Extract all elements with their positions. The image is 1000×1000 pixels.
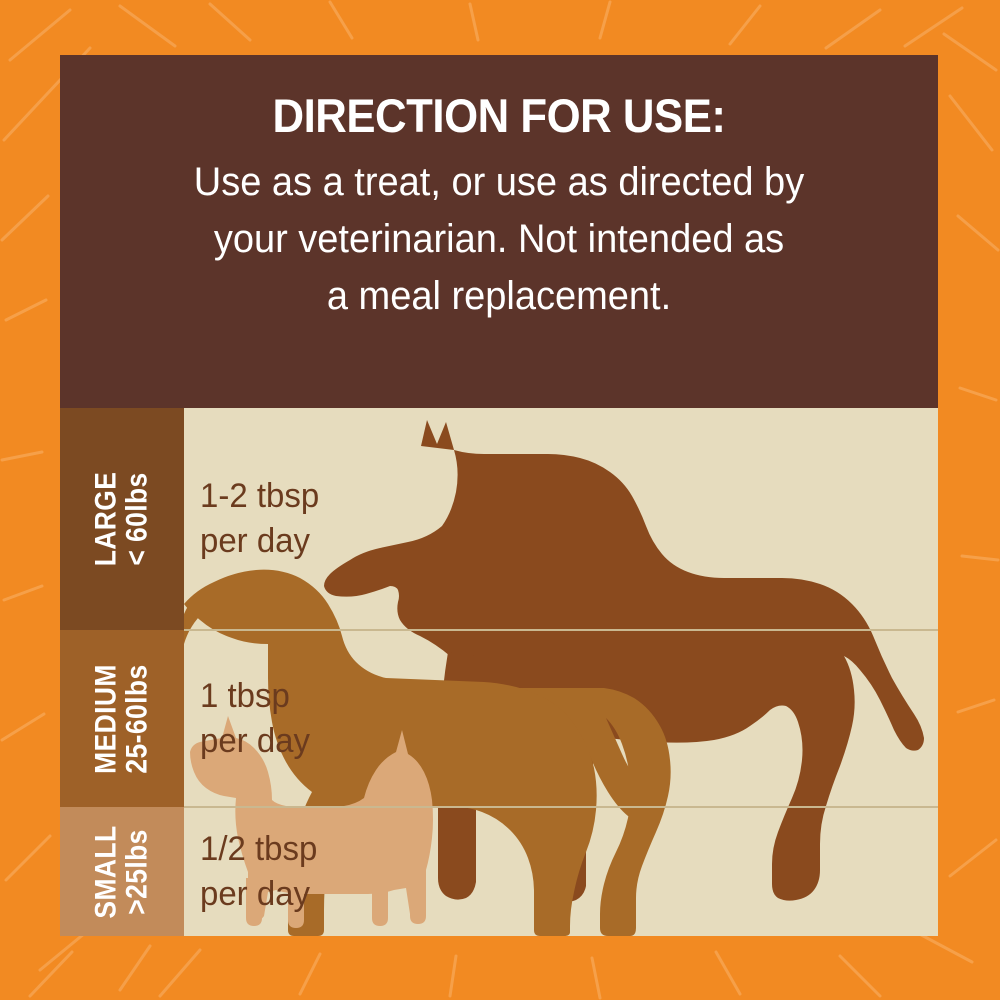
dose-frequency-small: per day (200, 872, 916, 917)
dose-amount-medium: 1 tbsp (200, 674, 916, 719)
size-label-medium: MEDIUM (91, 664, 122, 774)
size-band-medium: MEDIUM 25-60lbs (60, 630, 184, 807)
instructions-line-3: a meal replacement. (99, 268, 899, 325)
dose-cell-small: 1/2 tbsp per day (184, 807, 938, 936)
table-row-large: LARGE < 60lbs 1-2 tbsp per day (60, 408, 938, 630)
dose-cell-large: 1-2 tbsp per day (184, 408, 938, 630)
size-band-label-medium: MEDIUM 25-60lbs (91, 656, 152, 781)
size-band-label-small: SMALL >25lbs (91, 819, 152, 925)
dose-amount-small: 1/2 tbsp (200, 827, 916, 872)
feeding-guide-graphic: DIRECTION FOR USE: Use as a treat, or us… (0, 0, 1000, 1000)
direction-for-use-card: DIRECTION FOR USE: Use as a treat, or us… (60, 55, 938, 936)
size-band-large: LARGE < 60lbs (60, 408, 184, 630)
weight-label-small: >25lbs (122, 825, 153, 918)
weight-label-medium: 25-60lbs (122, 664, 153, 774)
table-row-small: SMALL >25lbs 1/2 tbsp per day (60, 807, 938, 936)
size-label-small: SMALL (91, 825, 122, 918)
size-band-label-large: LARGE < 60lbs (91, 465, 152, 573)
instructions-line-2: your veterinarian. Not intended as (99, 211, 899, 268)
dose-frequency-medium: per day (200, 719, 916, 764)
dose-amount-large: 1-2 tbsp (200, 474, 916, 519)
dose-cell-medium: 1 tbsp per day (184, 630, 938, 807)
instructions-line-1: Use as a treat, or use as directed by (99, 154, 899, 211)
weight-label-large: < 60lbs (122, 472, 153, 567)
size-label-large: LARGE (91, 472, 122, 567)
table-row-medium: MEDIUM 25-60lbs 1 tbsp per day (60, 630, 938, 807)
size-band-small: SMALL >25lbs (60, 807, 184, 936)
page-title: DIRECTION FOR USE: (107, 91, 890, 140)
card-header: DIRECTION FOR USE: Use as a treat, or us… (60, 55, 938, 408)
instructions-text: Use as a treat, or use as directed by yo… (99, 154, 899, 324)
feeding-chart-table: LARGE < 60lbs 1-2 tbsp per day MEDIUM 25… (60, 408, 938, 936)
dose-frequency-large: per day (200, 519, 916, 564)
